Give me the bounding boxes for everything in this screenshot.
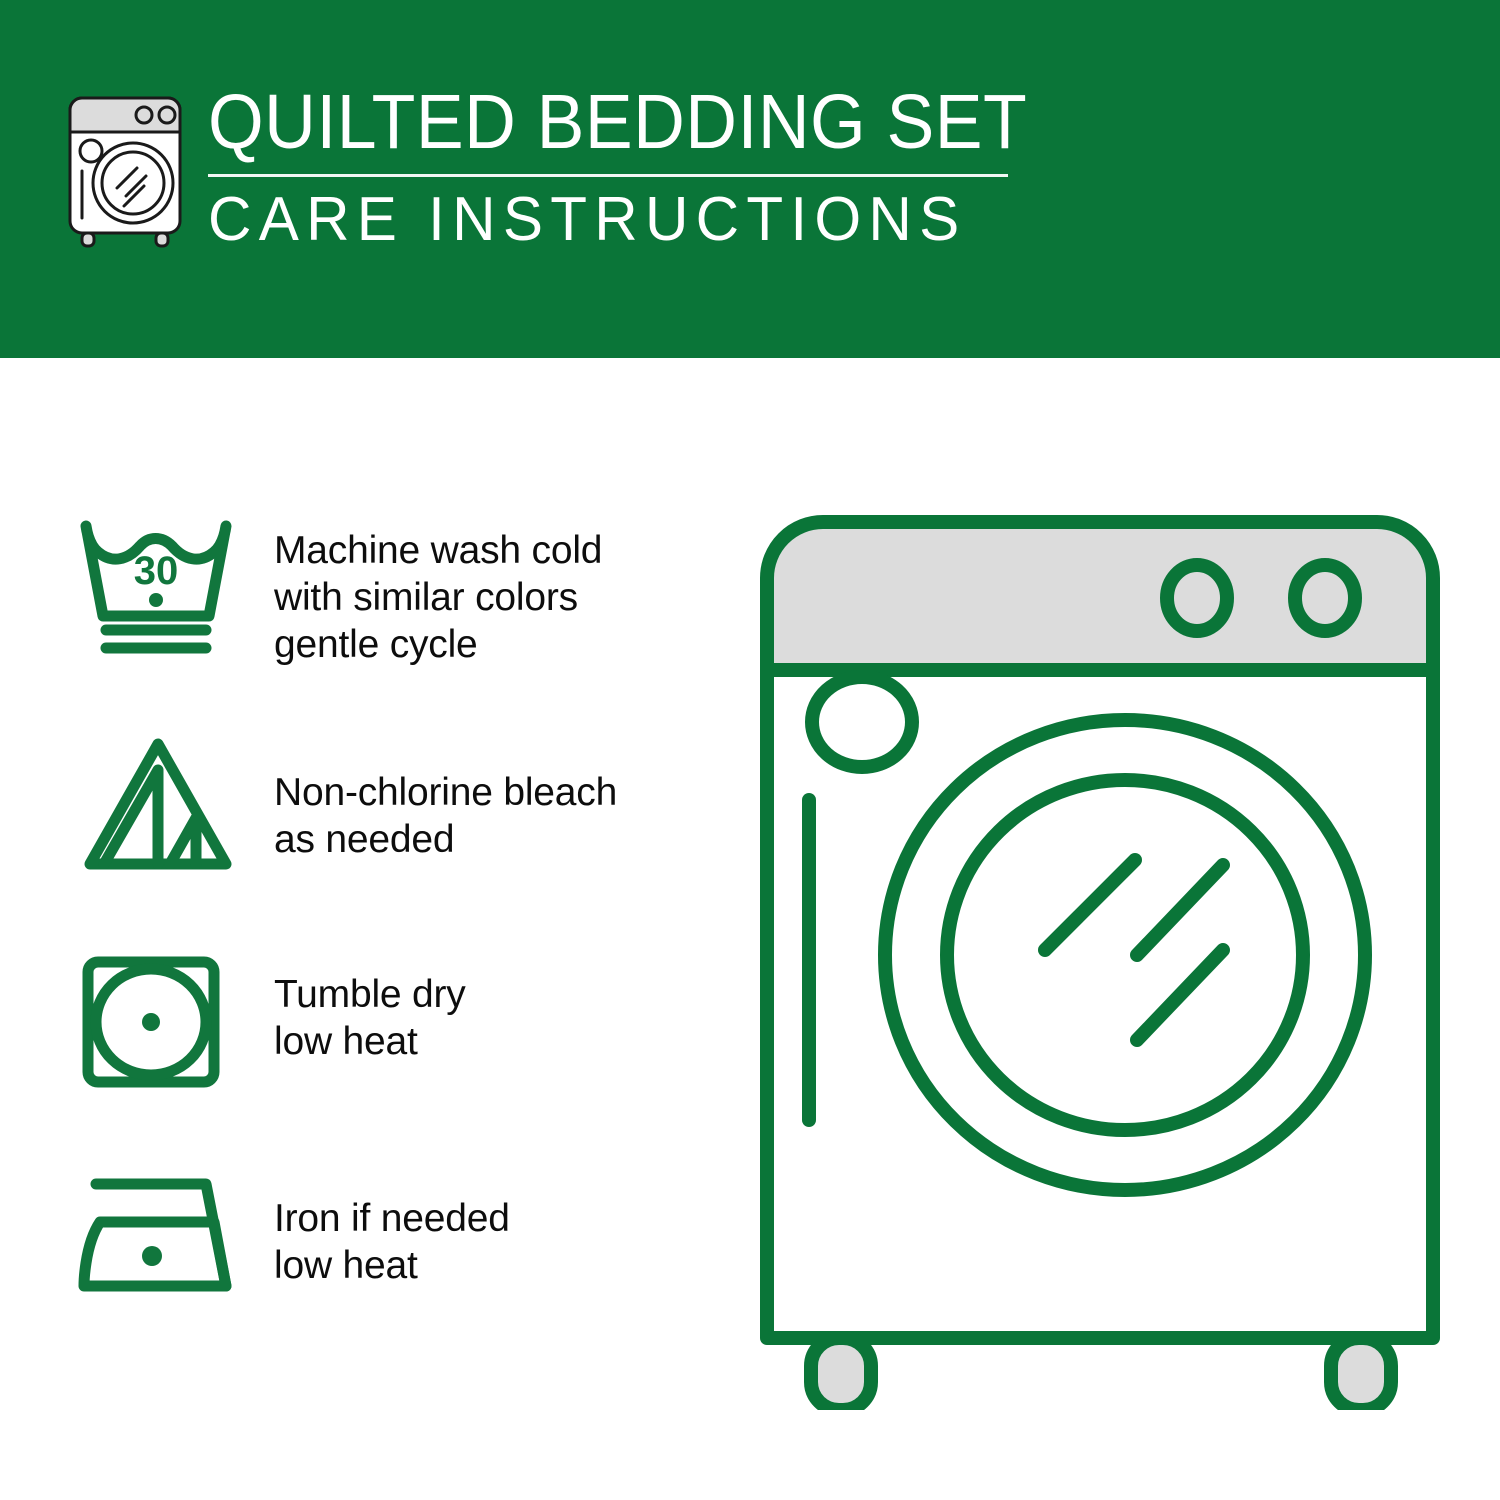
care-row-tumble-dry: Tumble dry low heat	[74, 948, 714, 1166]
machine-foot-left	[811, 1338, 871, 1410]
control-knob-right	[1295, 565, 1355, 631]
header-banner: QUILTED BEDDING SET CARE INSTRUCTIONS	[0, 0, 1500, 358]
tumble-dry-low-icon	[74, 948, 244, 1108]
machine-foot-right	[1331, 1338, 1391, 1410]
header-titles: QUILTED BEDDING SET CARE INSTRUCTIONS	[208, 85, 1089, 251]
door-outer-ring	[885, 720, 1365, 1190]
non-chlorine-bleach-icon	[74, 730, 244, 890]
care-text-bleach: Non-chlorine bleach as needed	[274, 730, 617, 864]
washing-machine-icon	[60, 88, 190, 248]
door-inner-ring	[947, 780, 1303, 1130]
page-title: QUILTED BEDDING SET	[208, 85, 1027, 160]
machine-wash-30-gentle-icon: 30	[74, 512, 244, 672]
wash-temperature-label: 30	[134, 549, 179, 593]
page-subtitle: CARE INSTRUCTIONS	[208, 189, 1062, 251]
care-text-tumble-dry: Tumble dry low heat	[274, 948, 466, 1066]
window-line-3	[1137, 950, 1223, 1040]
window-line-1	[1045, 860, 1135, 950]
care-text-machine-wash: Machine wash cold with similar colors ge…	[274, 512, 602, 668]
control-knob-left	[1167, 565, 1227, 631]
indicator-circle	[812, 677, 912, 767]
header-content: QUILTED BEDDING SET CARE INSTRUCTIONS	[60, 85, 1089, 251]
care-row-bleach: Non-chlorine bleach as needed	[74, 730, 714, 948]
care-row-machine-wash: 30 Machine wash cold with similar colors…	[74, 512, 714, 730]
care-instruction-list: 30 Machine wash cold with similar colors…	[74, 512, 714, 1384]
washing-machine-illustration	[745, 500, 1455, 1410]
care-row-iron: Iron if needed low heat	[74, 1166, 714, 1384]
title-divider	[208, 174, 1008, 177]
window-line-2	[1137, 865, 1223, 955]
iron-low-heat-icon	[74, 1166, 244, 1326]
care-text-iron: Iron if needed low heat	[274, 1166, 510, 1290]
